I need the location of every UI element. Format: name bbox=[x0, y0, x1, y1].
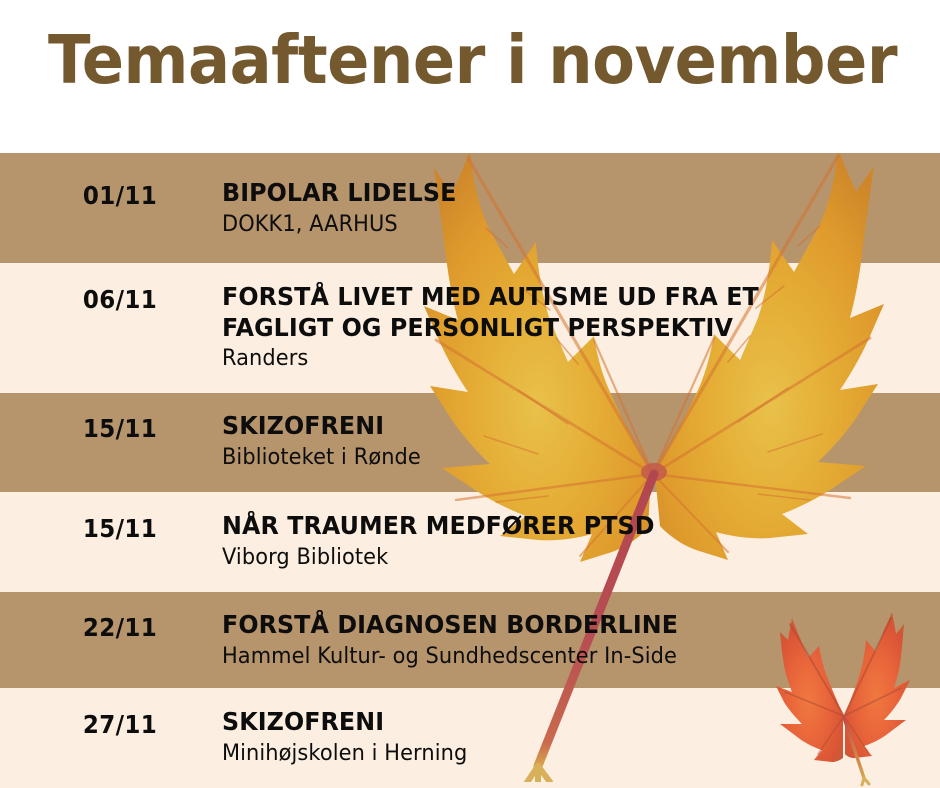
event-date: 15/11 bbox=[46, 414, 193, 443]
event-venue: Hammel Kultur- og Sundhedscenter In-Side bbox=[222, 644, 895, 670]
event-venue: DOKK1, AARHUS bbox=[222, 212, 895, 238]
title-area: Temaaftener i november bbox=[0, 0, 940, 153]
event-body: SKIZOFRENI Biblioteket i Rønde bbox=[222, 411, 930, 471]
event-row[interactable]: 22/11 FORSTÅ DIAGNOSEN BORDERLINE Hammel… bbox=[0, 592, 940, 688]
event-row[interactable]: 27/11 SKIZOFRENI Minihøjskolen i Herning bbox=[0, 688, 940, 788]
event-date: 01/11 bbox=[46, 181, 193, 210]
event-date: 27/11 bbox=[46, 710, 193, 739]
event-body: BIPOLAR LIDELSE DOKK1, AARHUS bbox=[222, 178, 930, 238]
event-title: FORSTÅ LIVET MED AUTISME UD FRA ET FAGLI… bbox=[222, 282, 895, 343]
event-title: SKIZOFRENI bbox=[222, 411, 895, 442]
event-venue: Minihøjskolen i Herning bbox=[222, 741, 895, 767]
event-body: FORSTÅ LIVET MED AUTISME UD FRA ET FAGLI… bbox=[222, 282, 930, 372]
page-title: Temaaftener i november bbox=[48, 27, 897, 94]
event-title: BIPOLAR LIDELSE bbox=[222, 178, 895, 209]
event-venue: Biblioteket i Rønde bbox=[222, 445, 895, 471]
event-date: 22/11 bbox=[46, 613, 193, 642]
event-date: 06/11 bbox=[46, 285, 193, 314]
event-date: 15/11 bbox=[46, 514, 193, 543]
event-row[interactable]: 15/11 SKIZOFRENI Biblioteket i Rønde bbox=[0, 393, 940, 492]
event-body: NÅR TRAUMER MEDFØRER PTSD Viborg Bibliot… bbox=[222, 511, 930, 571]
event-row[interactable]: 15/11 NÅR TRAUMER MEDFØRER PTSD Viborg B… bbox=[0, 492, 940, 592]
event-title: SKIZOFRENI bbox=[222, 707, 895, 738]
event-body: SKIZOFRENI Minihøjskolen i Herning bbox=[222, 707, 930, 767]
event-body: FORSTÅ DIAGNOSEN BORDERLINE Hammel Kultu… bbox=[222, 610, 930, 670]
event-title: FORSTÅ DIAGNOSEN BORDERLINE bbox=[222, 610, 895, 641]
poster-canvas: Temaaftener i november 01/11 BIPOLAR LID… bbox=[0, 0, 940, 788]
event-title: NÅR TRAUMER MEDFØRER PTSD bbox=[222, 511, 895, 542]
event-venue: Viborg Bibliotek bbox=[222, 545, 895, 571]
event-venue: Randers bbox=[222, 346, 895, 372]
event-row[interactable]: 01/11 BIPOLAR LIDELSE DOKK1, AARHUS bbox=[0, 153, 940, 263]
event-row[interactable]: 06/11 FORSTÅ LIVET MED AUTISME UD FRA ET… bbox=[0, 263, 940, 393]
